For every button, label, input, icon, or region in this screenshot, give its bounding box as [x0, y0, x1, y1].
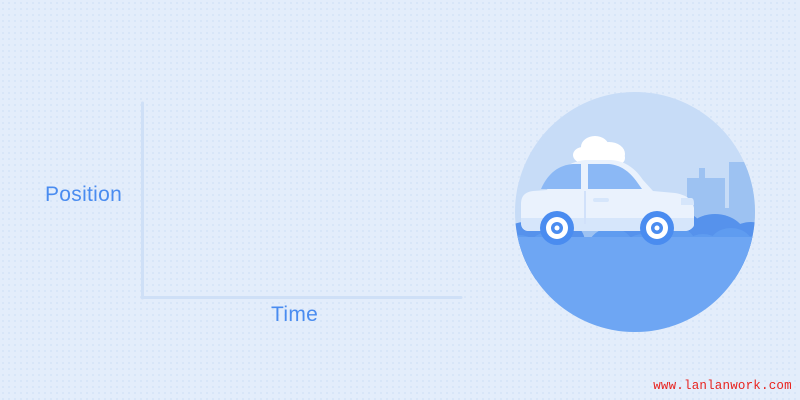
illustration-canvas: Position Time [0, 0, 800, 400]
ground-plane [515, 237, 755, 332]
site-watermark: www.lanlanwork.com [650, 379, 795, 393]
car-bumper [675, 220, 694, 228]
car-rear-wheel [540, 211, 574, 245]
car-headlight [681, 198, 694, 205]
y-axis-label: Position [45, 183, 122, 207]
x-axis-label: Time [271, 303, 318, 327]
car-scene-illustration [515, 92, 755, 332]
car-door-handle [593, 198, 609, 202]
car-front-wheel [640, 211, 674, 245]
